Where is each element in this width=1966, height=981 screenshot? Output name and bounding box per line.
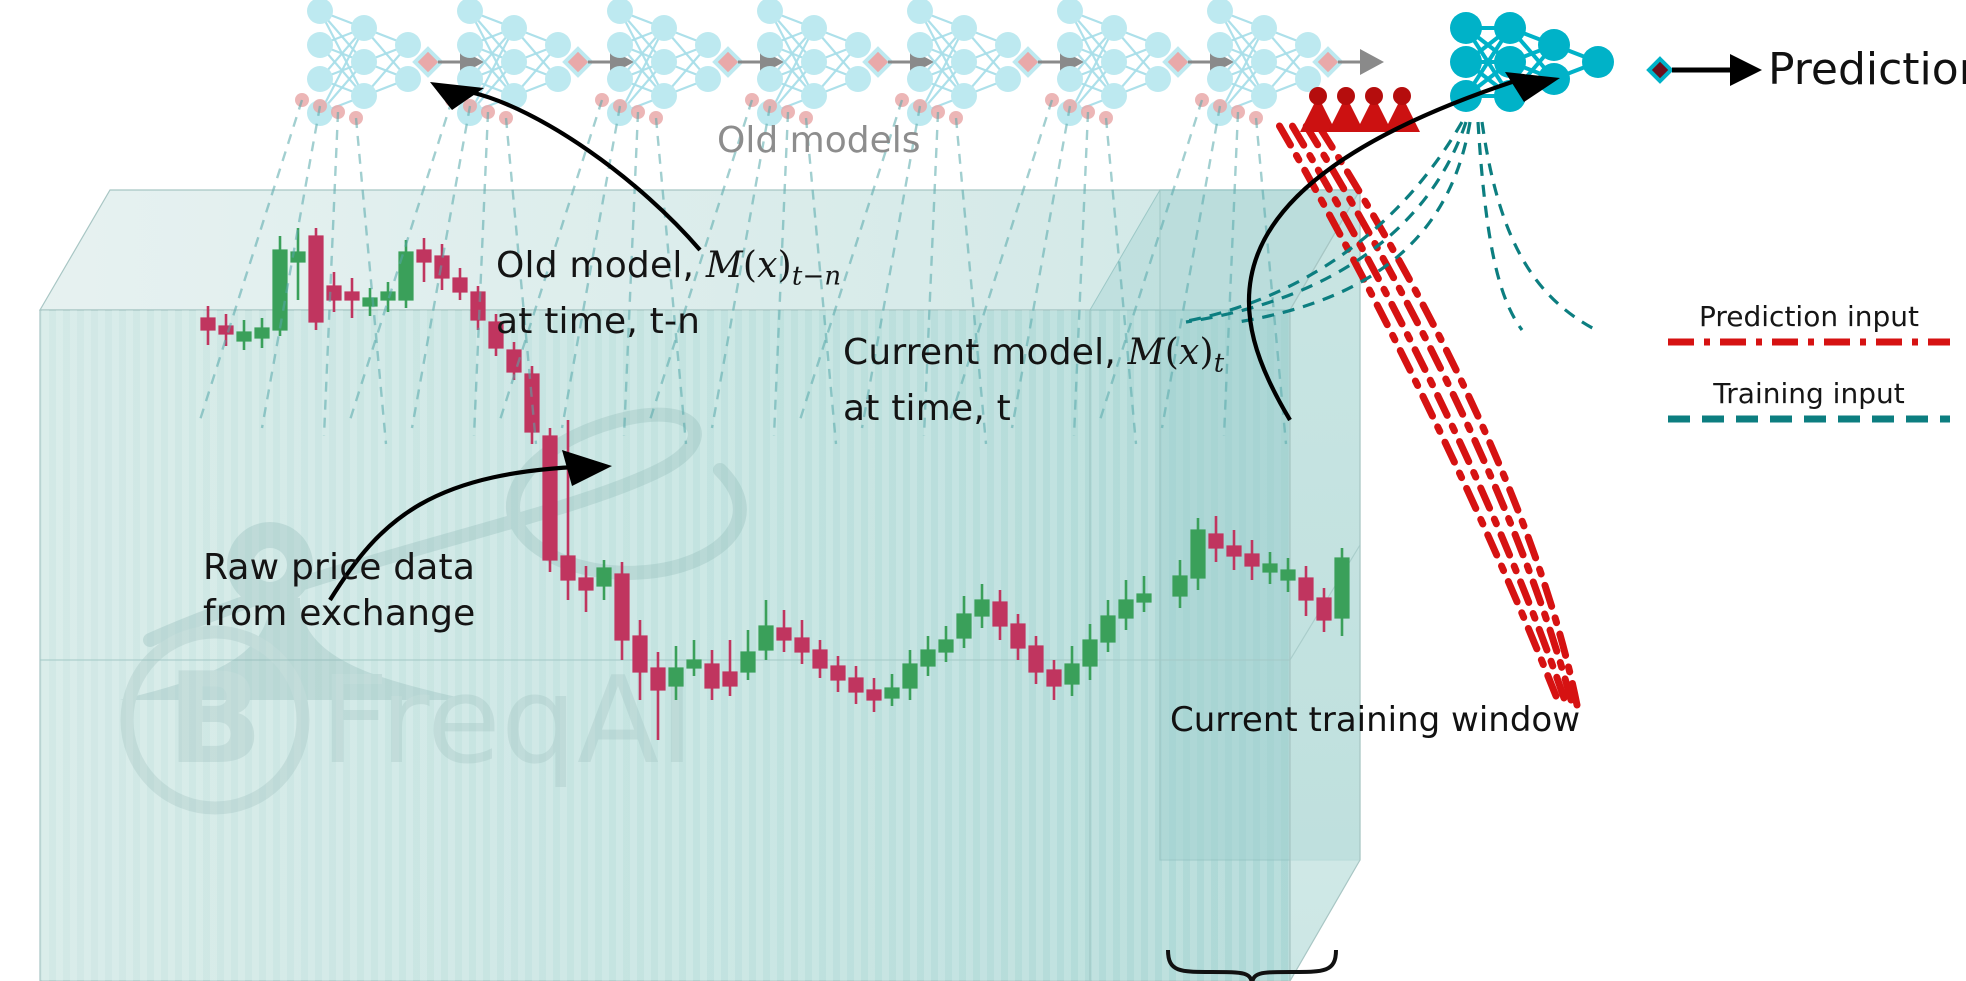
network-node — [1145, 32, 1171, 58]
network-node — [651, 49, 677, 75]
figure-canvas: B FreqAI — [0, 0, 1966, 981]
network-node — [695, 32, 721, 58]
network-node — [1251, 83, 1277, 109]
training-input-bundle-current — [1182, 122, 1596, 330]
network-node — [801, 15, 827, 41]
current-model-math-x: x — [1179, 332, 1200, 373]
network-node — [651, 15, 677, 41]
old-model-math-subscript: t−n — [792, 261, 841, 291]
network-node — [545, 32, 571, 58]
old-models-label: Old models — [717, 120, 920, 161]
model-handoff-diamond — [415, 49, 441, 75]
model-handoff-diamond — [865, 49, 891, 75]
network-node — [1101, 49, 1127, 75]
old-model-math-M: M — [706, 245, 743, 286]
model-handoff-diamond — [1315, 49, 1341, 75]
network-node — [1057, 66, 1083, 92]
current-model-math-paren-open: ( — [1165, 332, 1179, 373]
legend-item-training-input: Training input — [1664, 377, 1954, 432]
network-node — [907, 66, 933, 92]
network-node — [757, 32, 783, 58]
network-node — [951, 15, 977, 41]
current-training-window-label: Current training window — [1170, 700, 1580, 740]
network-node — [1207, 32, 1233, 58]
current-model-annotation-line2: at time, t — [843, 388, 1011, 429]
legend-item-prediction-input: Prediction input — [1664, 300, 1954, 355]
prediction-output-diamond — [1649, 59, 1671, 81]
legend-swatch-prediction-input — [1664, 333, 1954, 351]
raw-price-annotation-line2: from exchange — [203, 593, 476, 634]
prediction-input-bundle — [1276, 120, 1577, 705]
network-node — [607, 32, 633, 58]
network-node — [1101, 83, 1127, 109]
network-node — [457, 32, 483, 58]
network-node — [1207, 66, 1233, 92]
current-model-math-M: M — [1128, 332, 1165, 373]
current-model-arrow — [1249, 82, 1512, 420]
prediction-output-arrow — [1672, 54, 1762, 86]
network-node — [1057, 32, 1083, 58]
old-model-math-paren-close: ) — [778, 245, 792, 286]
network-node — [1450, 12, 1482, 44]
old-model-math-x: x — [757, 245, 778, 286]
network-node — [1251, 15, 1277, 41]
model-handoff-diamond — [565, 49, 591, 75]
old-model-annotation-line1-prefix: Old model, — [496, 245, 706, 286]
training-window-brace — [1168, 950, 1336, 981]
network-node — [395, 66, 421, 92]
model-handoff-diamond — [715, 49, 741, 75]
network-node — [395, 32, 421, 58]
network-node — [845, 32, 871, 58]
network-node — [801, 83, 827, 109]
current-model-annotation-line1-prefix: Current model, — [843, 332, 1128, 373]
network-node — [951, 49, 977, 75]
network-node — [307, 32, 333, 58]
current-model-math-paren-close: ) — [1199, 332, 1213, 373]
network-node — [1494, 12, 1526, 44]
legend-label-prediction-input: Prediction input — [1664, 300, 1954, 333]
current-model-annotation: Current model, M(x)tat time, t — [843, 330, 1224, 432]
network-node — [607, 66, 633, 92]
network-node — [1251, 49, 1277, 75]
network-node — [1538, 29, 1570, 61]
network-node — [951, 83, 977, 109]
old-model-annotation-line2: at time, t-n — [496, 301, 700, 342]
network-node — [1450, 46, 1482, 78]
raw-price-annotation-line1: Raw price data — [203, 547, 475, 588]
network-node — [545, 66, 571, 92]
model-handoff-arrow — [1360, 49, 1384, 75]
network-node — [307, 66, 333, 92]
network-node — [1295, 32, 1321, 58]
prediction-node-dots — [1309, 87, 1411, 105]
old-model-math-paren-open: ( — [743, 245, 757, 286]
network-node — [801, 49, 827, 75]
prediction-label: Prediction — [1768, 44, 1966, 95]
network-node — [1101, 15, 1127, 41]
legend-label-training-input: Training input — [1664, 377, 1954, 410]
model-handoff-diamond — [1015, 49, 1041, 75]
network-node — [845, 66, 871, 92]
network-layer — [0, 0, 1966, 981]
model-handoff-diamond — [1165, 49, 1191, 75]
current-model-math-subscript: t — [1214, 348, 1225, 378]
old-model-annotation: Old model, M(x)t−nat time, t-n — [496, 243, 841, 345]
raw-price-annotation: Raw price datafrom exchange — [203, 545, 476, 637]
network-node — [351, 83, 377, 109]
network-node — [351, 15, 377, 41]
network-node — [501, 15, 527, 41]
legend-swatch-training-input — [1664, 410, 1954, 428]
network-node — [651, 83, 677, 109]
network-node — [995, 66, 1021, 92]
network-node — [757, 66, 783, 92]
network-node — [1145, 66, 1171, 92]
network-node — [907, 32, 933, 58]
network-node — [351, 49, 377, 75]
network-node — [695, 66, 721, 92]
network-node — [501, 49, 527, 75]
network-node — [1582, 46, 1614, 78]
network-node — [995, 32, 1021, 58]
legend: Prediction input Training input — [1664, 300, 1954, 432]
